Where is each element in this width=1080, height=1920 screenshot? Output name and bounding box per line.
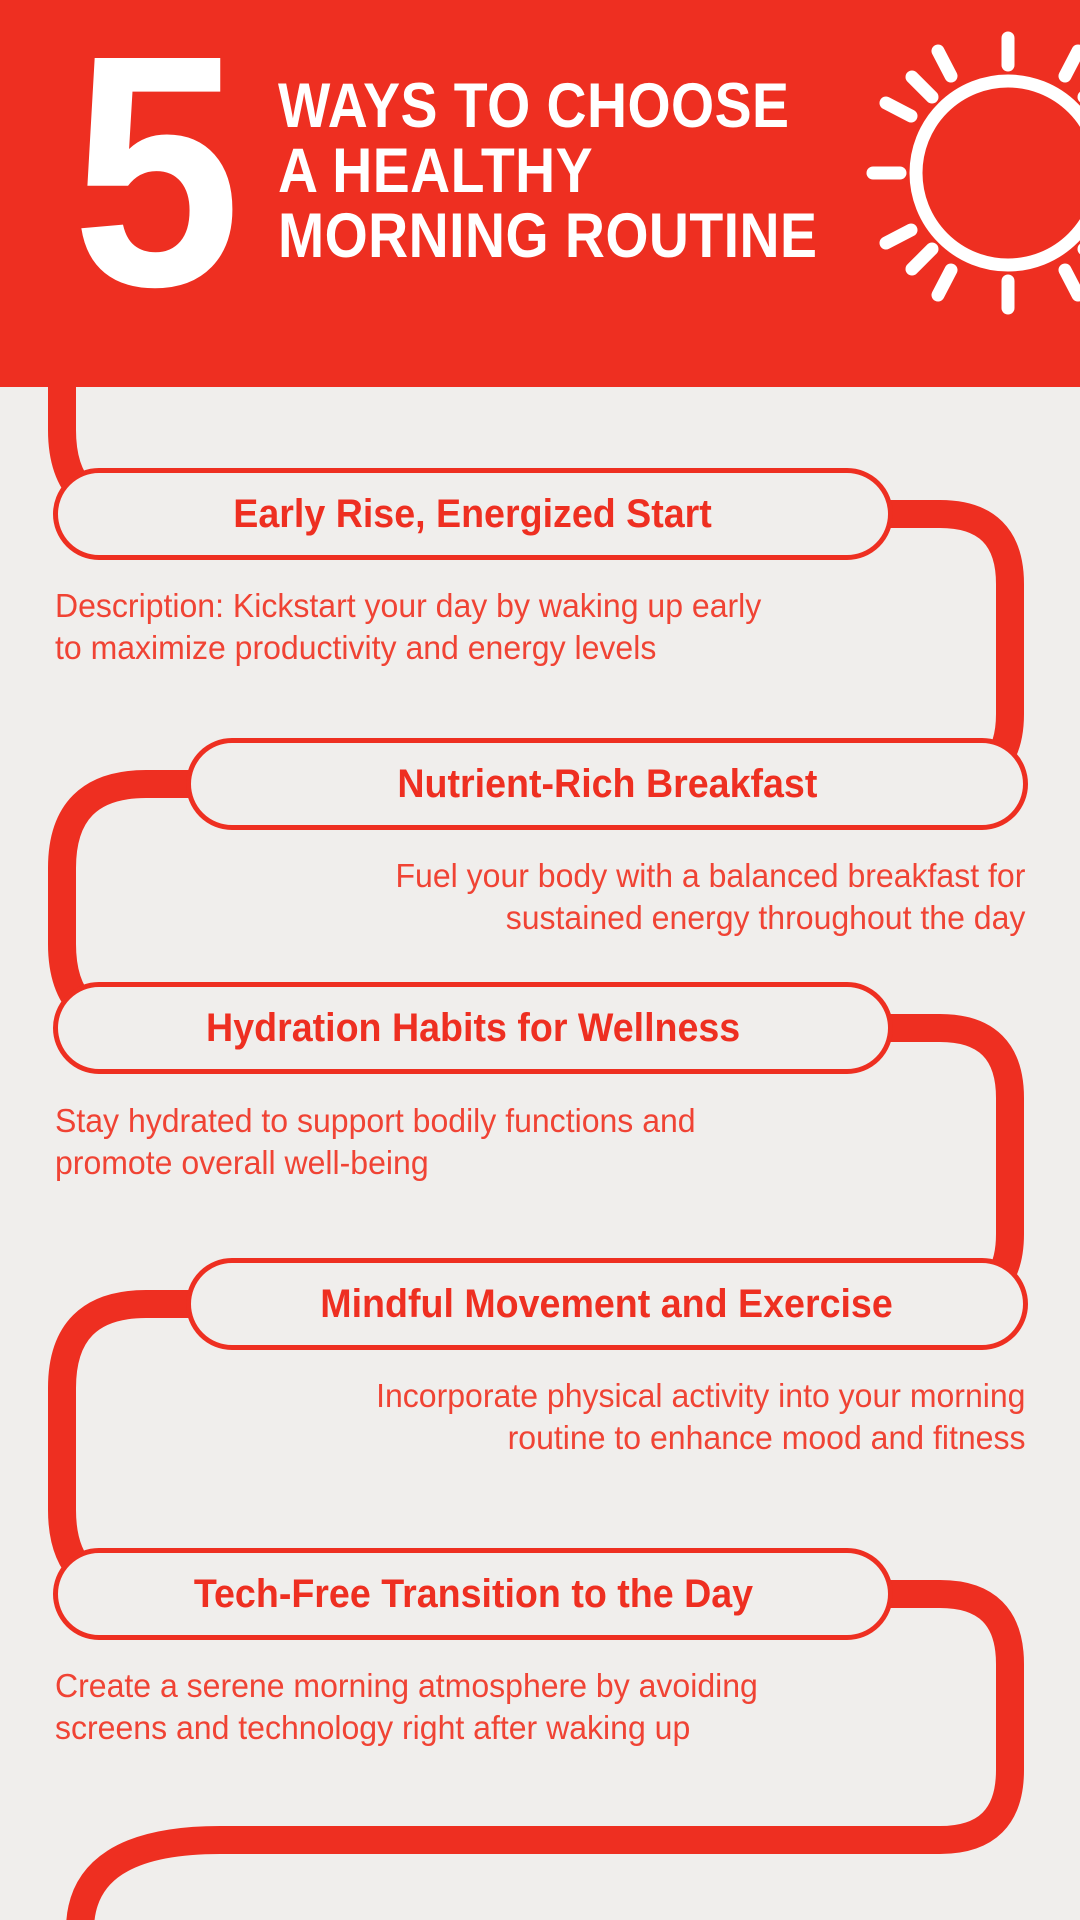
routine-card-5-description: Create a serene morning atmosphere by av… bbox=[55, 1665, 780, 1749]
routine-card-3-description: Stay hydrated to support bodily function… bbox=[55, 1100, 715, 1184]
routine-card-5-title: Tech-Free Transition to the Day bbox=[193, 1574, 752, 1614]
infographic-page: 5 WAYS TO CHOOSE A HEALTHY MORNING ROUTI… bbox=[0, 0, 1080, 1920]
hero-numeral: 5 bbox=[72, 36, 232, 307]
routine-card-1-title: Early Rise, Energized Start bbox=[234, 494, 713, 534]
routine-card-2-description: Fuel your body with a balanced breakfast… bbox=[376, 855, 1025, 939]
routine-card-3-description-line-2: promote overall well-being bbox=[55, 1142, 696, 1184]
routine-card-5-title-pill[interactable]: Tech-Free Transition to the Day bbox=[53, 1548, 893, 1640]
routine-card-4-title-pill[interactable]: Mindful Movement and Exercise bbox=[186, 1258, 1028, 1350]
routine-card-1-description: Description: Kickstart your day by wakin… bbox=[55, 585, 783, 669]
routine-card-5-description-line-2: screens and technology right after wakin… bbox=[55, 1707, 758, 1749]
routine-card-1-title-pill[interactable]: Early Rise, Energized Start bbox=[53, 468, 893, 560]
routine-card-5-description-line-1: Create a serene morning atmosphere by av… bbox=[55, 1665, 758, 1707]
routine-card-3-title: Hydration Habits for Wellness bbox=[206, 1008, 740, 1048]
header-banner: 5 WAYS TO CHOOSE A HEALTHY MORNING ROUTI… bbox=[0, 0, 1080, 387]
routine-card-1-description-line-2: to maximize productivity and energy leve… bbox=[55, 627, 761, 669]
routine-card-2-description-line-1: Fuel your body with a balanced breakfast… bbox=[395, 855, 1025, 897]
routine-card-2-title-pill[interactable]: Nutrient-Rich Breakfast bbox=[186, 738, 1028, 830]
page-title-line-3: MORNING ROUTINE bbox=[278, 204, 841, 269]
routine-card-4-description: Incorporate physical activity into your … bbox=[356, 1375, 1025, 1459]
page-title-line-2: A HEALTHY bbox=[278, 139, 841, 204]
routine-card-4-title: Mindful Movement and Exercise bbox=[321, 1284, 893, 1324]
routine-card-2-description-line-2: sustained energy throughout the day bbox=[395, 897, 1025, 939]
routine-card-1-description-line-1: Description: Kickstart your day by wakin… bbox=[55, 585, 761, 627]
routine-card-4-description-line-1: Incorporate physical activity into your … bbox=[376, 1375, 1025, 1417]
routine-card-4-description-line-2: routine to enhance mood and fitness bbox=[376, 1417, 1025, 1459]
routine-card-2-title: Nutrient-Rich Breakfast bbox=[397, 764, 817, 804]
page-title: WAYS TO CHOOSE A HEALTHY MORNING ROUTINE bbox=[278, 74, 918, 269]
page-title-line-1: WAYS TO CHOOSE bbox=[278, 74, 841, 139]
routine-card-3-title-pill[interactable]: Hydration Habits for Wellness bbox=[53, 982, 893, 1074]
routine-card-3-description-line-1: Stay hydrated to support bodily function… bbox=[55, 1100, 696, 1142]
